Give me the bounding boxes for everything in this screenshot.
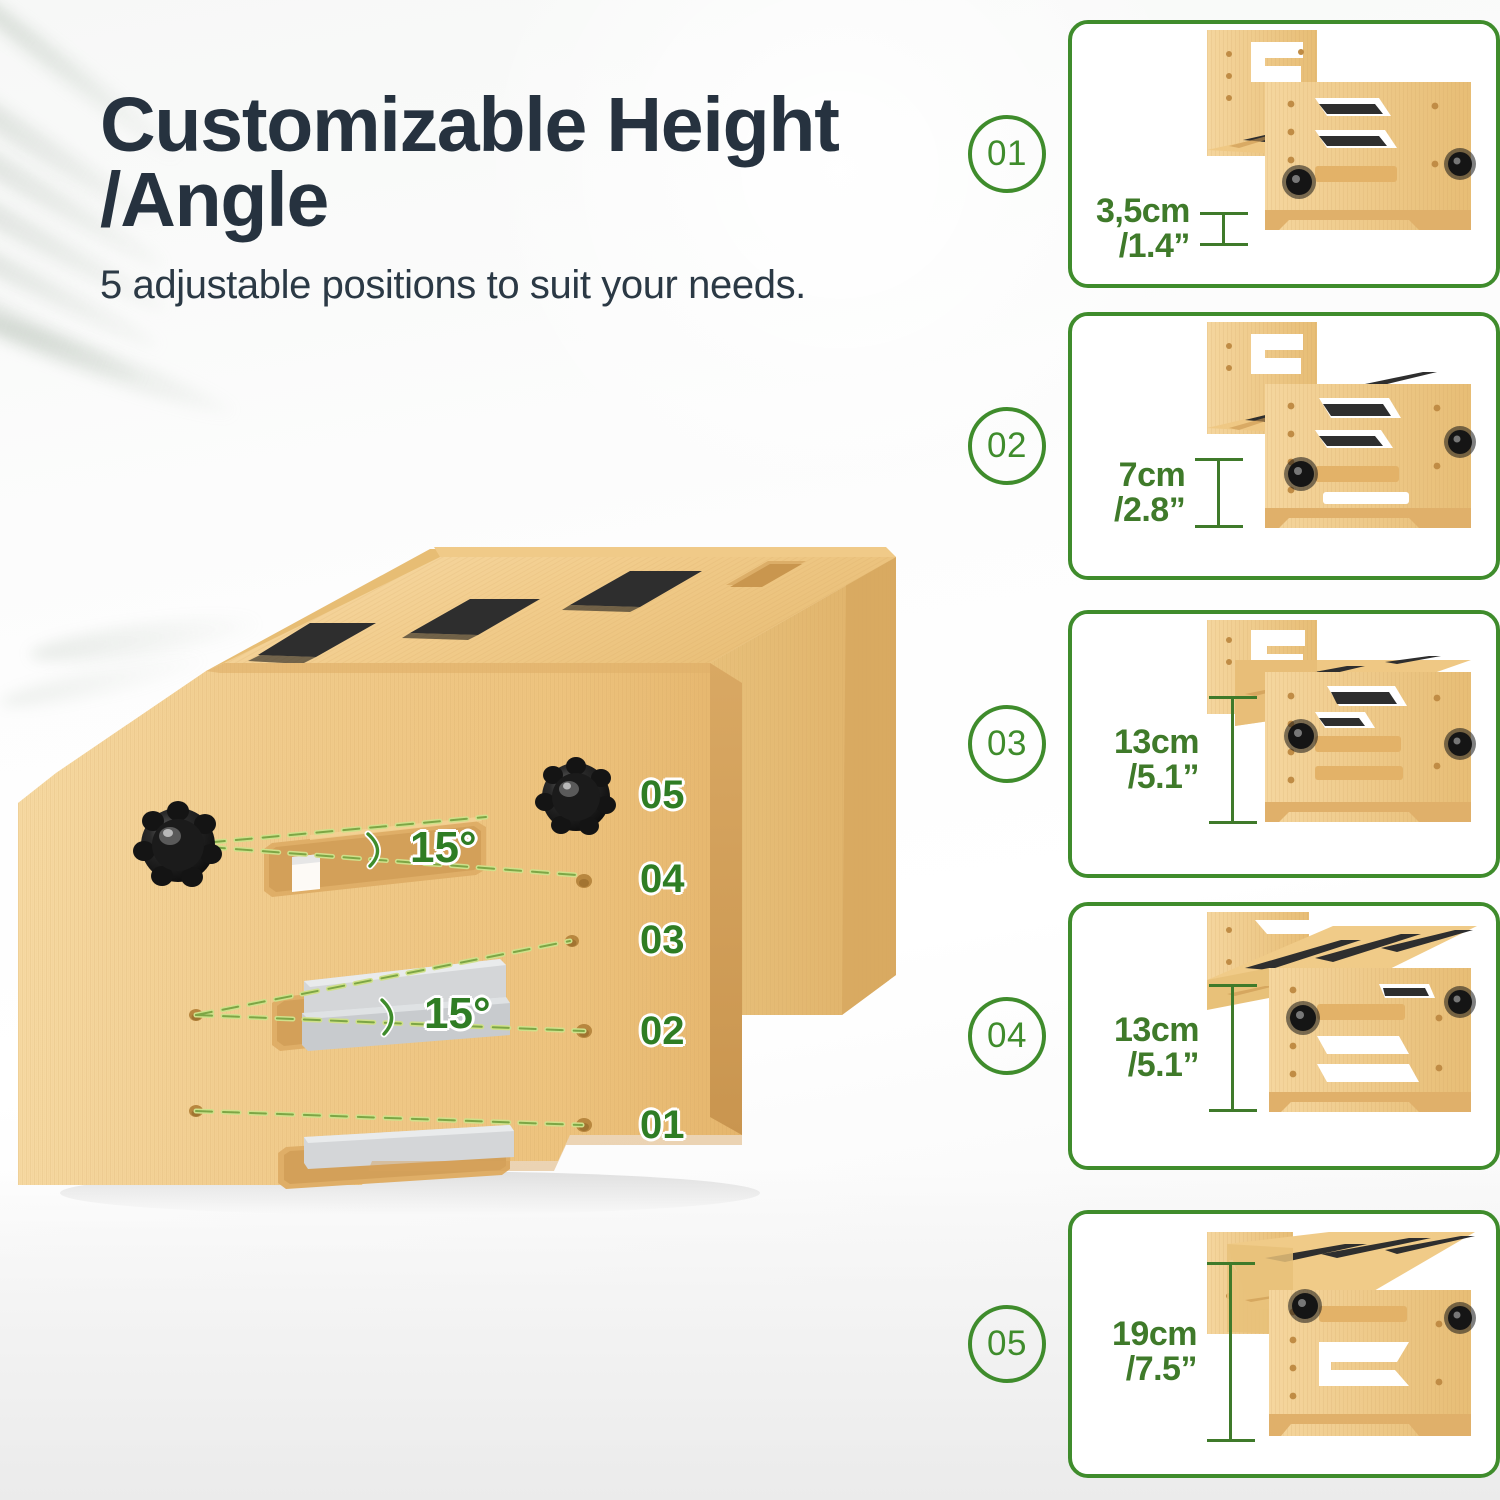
step-card-05: 19cm/7.5” (1068, 1210, 1500, 1478)
step-badge-03: 03 (968, 705, 1046, 783)
panel-thickness-edge (710, 663, 742, 1135)
back-panel-edge (842, 557, 896, 1015)
height-option-02[interactable]: 02 (960, 310, 1500, 582)
step-photo-05 (1072, 1214, 1496, 1474)
step-badge-04-label: 04 (987, 1016, 1027, 1056)
step-badge-01-label: 01 (987, 134, 1027, 174)
step-badge-05-label: 05 (987, 1324, 1027, 1364)
step-card-04: 13cm/5.1” (1068, 902, 1500, 1170)
height-option-03[interactable]: 03 (960, 608, 1500, 880)
page-title-line-1: Customizable Height (100, 88, 980, 163)
page-title-line-2: /Angle (100, 163, 980, 238)
step-badge-02-label: 02 (987, 426, 1027, 466)
hero-product-image: 05 04 03 02 01 15° 15° (10, 545, 940, 1265)
height-option-05[interactable]: 05 (960, 1208, 1500, 1480)
step-card-01: 3,5cm/1.4” (1068, 20, 1500, 288)
step-badge-04: 04 (968, 997, 1046, 1075)
headline-block: Customizable Height /Angle 5 adjustable … (100, 88, 980, 308)
step-badge-02: 02 (968, 407, 1046, 485)
page-subtitle: 5 adjustable positions to suit your need… (100, 263, 980, 308)
step-photo-02 (1072, 316, 1496, 576)
height-option-01[interactable]: 01 (960, 18, 1500, 290)
step-badge-03-label: 03 (987, 724, 1027, 764)
step-card-02: 7cm/2.8” (1068, 312, 1500, 580)
step-badge-01: 01 (968, 115, 1046, 193)
hero-illustration (10, 545, 940, 1265)
step-photo-03 (1072, 614, 1496, 874)
height-option-04[interactable]: 04 (960, 900, 1500, 1172)
height-options-list: 01 (960, 0, 1500, 1500)
step-card-03: 13cm/5.1” (1068, 610, 1500, 878)
step-badge-05: 05 (968, 1305, 1046, 1383)
step-photo-04 (1072, 906, 1496, 1166)
step-photo-01 (1072, 24, 1496, 284)
